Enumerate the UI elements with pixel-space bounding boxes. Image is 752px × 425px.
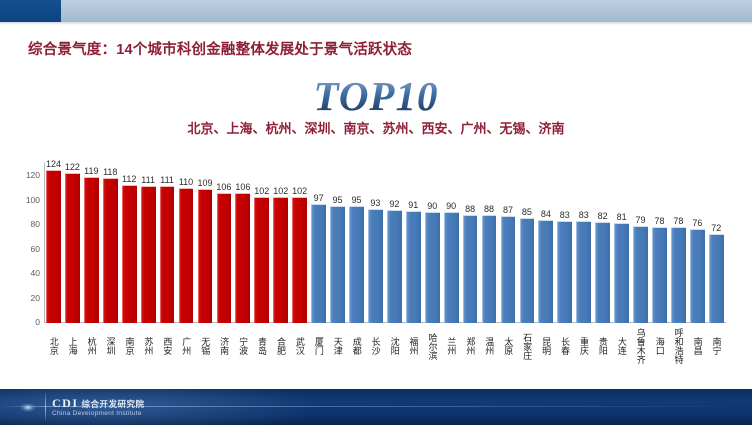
bar: 78	[671, 227, 686, 323]
bar: 83	[557, 221, 572, 323]
bar: 106	[235, 193, 250, 323]
bar: 112	[122, 185, 137, 323]
bar: 84	[538, 220, 553, 323]
bar-cell: 102	[252, 163, 271, 323]
bar: 83	[576, 221, 591, 323]
x-axis-category-label: 深圳	[105, 328, 116, 364]
x-axis-category-label: 兰州	[446, 328, 457, 364]
bar-cell: 93	[366, 163, 385, 323]
bar-cell: 106	[233, 163, 252, 323]
bar: 106	[217, 193, 232, 323]
x-axis-label-cell: 广州	[177, 328, 196, 364]
x-axis-category-label: 南昌	[692, 328, 703, 364]
y-axis-tick: 60	[31, 244, 45, 254]
bar-cell: 78	[669, 163, 688, 323]
bar-value-label: 81	[617, 212, 627, 222]
x-axis-label-cell: 沈阳	[385, 328, 404, 364]
x-axis-category-label: 昆明	[541, 328, 552, 364]
x-axis-label-cell: 昆明	[536, 328, 555, 364]
x-axis-label-cell: 石家庄	[517, 328, 536, 364]
bar-value-label: 111	[160, 175, 174, 185]
x-axis-label-cell: 大连	[612, 328, 631, 364]
bar-cell: 83	[574, 163, 593, 323]
bar-cell: 92	[385, 163, 404, 323]
bar-value-label: 84	[541, 209, 551, 219]
x-axis-label-cell: 杭州	[82, 328, 101, 364]
x-axis-label-cell: 上海	[63, 328, 82, 364]
bar-value-label: 83	[560, 210, 570, 220]
x-axis-category-label: 西安	[162, 328, 173, 364]
bar-cell: 85	[517, 163, 536, 323]
bar: 93	[368, 209, 383, 323]
bar-cell: 91	[404, 163, 423, 323]
x-axis-category-label: 苏州	[143, 328, 154, 364]
x-axis-category-label: 上海	[67, 328, 78, 364]
bar-cell: 72	[707, 163, 726, 323]
bar: 87	[501, 216, 516, 323]
bar-value-label: 72	[711, 223, 721, 233]
x-axis-label-cell: 南昌	[688, 328, 707, 364]
x-axis-category-label: 哈尔滨	[427, 328, 438, 364]
x-axis-label-cell: 呼和浩特	[669, 328, 688, 364]
bar-cell: 83	[555, 163, 574, 323]
bar: 82	[595, 222, 610, 323]
y-axis-tick: 20	[31, 293, 45, 303]
cdi-star-icon	[20, 403, 36, 412]
bar-cell: 119	[82, 163, 101, 323]
x-axis-category-label: 乌鲁木齐	[635, 328, 646, 364]
bar-value-label: 88	[484, 204, 494, 214]
bar: 119	[84, 177, 99, 323]
bar: 90	[425, 212, 440, 323]
x-axis-label-cell: 济南	[214, 328, 233, 364]
bar-cell: 112	[120, 163, 139, 323]
x-axis-label-cell: 哈尔滨	[423, 328, 442, 364]
x-axis-label-cell: 宁波	[233, 328, 252, 364]
x-axis-category-label: 长沙	[370, 328, 381, 364]
bar-value-label: 102	[254, 186, 269, 196]
bar-cell: 90	[442, 163, 461, 323]
bar: 95	[349, 206, 364, 323]
x-axis-category-label: 贵阳	[597, 328, 608, 364]
x-axis-category-label: 石家庄	[522, 328, 533, 364]
bar-cell: 102	[290, 163, 309, 323]
x-axis-category-label: 福州	[408, 328, 419, 364]
x-axis-category-label: 北京	[48, 328, 59, 364]
bar-value-label: 112	[122, 174, 136, 184]
bar: 91	[406, 211, 421, 323]
bar-cell: 97	[309, 163, 328, 323]
bar-value-label: 118	[103, 167, 117, 177]
bar-cell: 84	[536, 163, 555, 323]
x-axis-category-label: 郑州	[465, 328, 476, 364]
bar: 85	[520, 218, 535, 323]
x-axis-label-cell: 长沙	[366, 328, 385, 364]
bar-chart: 020406080100120 124122119118112111111110…	[8, 158, 752, 380]
bar: 88	[482, 215, 497, 323]
x-axis-category-label: 宁波	[238, 328, 249, 364]
top-accent-block	[0, 0, 61, 22]
bar-value-label: 85	[522, 207, 532, 217]
bar: 92	[387, 210, 402, 323]
bar: 95	[330, 206, 345, 323]
x-axis-category-label: 沈阳	[389, 328, 400, 364]
bar-cell: 124	[44, 163, 63, 323]
x-axis-label-cell: 太原	[499, 328, 518, 364]
bar: 97	[311, 204, 326, 323]
x-axis-category-label: 天津	[332, 328, 343, 364]
x-axis-category-label: 大连	[616, 328, 627, 364]
bar: 110	[179, 188, 194, 323]
bar: 72	[709, 234, 724, 323]
bar-value-label: 97	[314, 193, 324, 203]
x-axis-labels: 北京上海杭州深圳南京苏州西安广州无锡济南宁波青岛合肥武汉厦门天津成都长沙沈阳福州…	[44, 328, 726, 364]
y-axis-tick: 120	[26, 170, 45, 180]
bar-value-label: 119	[84, 166, 98, 176]
bar-cell: 81	[612, 163, 631, 323]
x-axis-label-cell: 苏州	[139, 328, 158, 364]
bar: 76	[690, 229, 705, 323]
bar-cell: 110	[177, 163, 196, 323]
x-axis-category-label: 厦门	[313, 328, 324, 364]
footer-logo-chinese: 综合开发研究院	[82, 399, 145, 409]
bar-value-label: 87	[503, 205, 513, 215]
x-axis-label-cell: 北京	[44, 328, 63, 364]
x-axis-category-label: 温州	[484, 328, 495, 364]
bar-cell: 82	[593, 163, 612, 323]
bar: 102	[254, 197, 269, 323]
x-axis-label-cell: 成都	[347, 328, 366, 364]
bar-value-label: 92	[389, 199, 399, 209]
bar-cell: 102	[271, 163, 290, 323]
bar-value-label: 109	[197, 178, 212, 188]
bar-cell: 111	[139, 163, 158, 323]
top10-cities-line: 北京、上海、杭州、深圳、南京、苏州、西安、广州、无锡、济南	[0, 118, 752, 137]
bar: 78	[652, 227, 667, 323]
x-axis-label-cell: 海口	[650, 328, 669, 364]
x-axis-category-label: 成都	[351, 328, 362, 364]
bar-value-label: 122	[65, 162, 80, 172]
x-axis-label-cell: 厦门	[309, 328, 328, 364]
bar-cell: 111	[158, 163, 177, 323]
bar: 118	[103, 178, 118, 323]
bar-cell: 122	[63, 163, 82, 323]
bar: 81	[614, 223, 629, 323]
bar-value-label: 78	[673, 216, 683, 226]
y-axis-tick: 80	[31, 219, 45, 229]
bar: 88	[463, 215, 478, 323]
bar-value-label: 95	[333, 195, 343, 205]
x-axis-category-label: 重庆	[578, 328, 589, 364]
x-axis-label-cell: 深圳	[101, 328, 120, 364]
slide-canvas: 综合景气度：14个城市科创金融整体发展处于景气活跃状态 TOP10 北京、上海、…	[0, 0, 752, 425]
bar-value-label: 95	[351, 195, 361, 205]
x-axis-label-cell: 西安	[158, 328, 177, 364]
bar-value-label: 124	[46, 159, 61, 169]
x-axis-label-cell: 福州	[404, 328, 423, 364]
bar-cell: 106	[214, 163, 233, 323]
bar-value-label: 83	[579, 210, 589, 220]
bar-value-label: 111	[141, 175, 155, 185]
bar-value-label: 102	[292, 186, 307, 196]
bar: 102	[273, 197, 288, 323]
x-axis-label-cell: 无锡	[196, 328, 215, 364]
x-axis-category-label: 无锡	[200, 328, 211, 364]
bar-value-label: 82	[598, 211, 608, 221]
x-axis-label-cell: 贵阳	[593, 328, 612, 364]
bar: 79	[633, 226, 648, 323]
bar-value-label: 88	[465, 204, 475, 214]
bar: 111	[141, 186, 156, 323]
x-axis-label-cell: 乌鲁木齐	[631, 328, 650, 364]
bar-value-label: 102	[273, 186, 288, 196]
bar-value-label: 106	[216, 182, 231, 192]
page-title: 综合景气度：14个城市科创金融整体发展处于景气活跃状态	[28, 38, 412, 59]
bar-value-label: 76	[692, 218, 702, 228]
bar: 102	[292, 197, 307, 323]
x-axis-category-label: 太原	[503, 328, 514, 364]
bar: 122	[65, 173, 80, 323]
bar-value-label: 91	[408, 200, 418, 210]
top-bar-shadow	[0, 22, 752, 25]
y-axis-tick: 100	[26, 195, 45, 205]
bar-cell: 88	[461, 163, 480, 323]
bar-cell: 95	[328, 163, 347, 323]
bar-cell: 95	[347, 163, 366, 323]
bar: 90	[444, 212, 459, 323]
x-axis-category-label: 合肥	[275, 328, 286, 364]
bar: 109	[198, 189, 213, 323]
bar: 124	[46, 170, 61, 323]
bar-value-label: 90	[446, 201, 456, 211]
x-axis-label-cell: 郑州	[461, 328, 480, 364]
x-axis-label-cell: 长春	[555, 328, 574, 364]
x-axis-label-cell: 重庆	[574, 328, 593, 364]
bar-cell: 76	[688, 163, 707, 323]
bar-cell: 87	[499, 163, 518, 323]
x-axis-label-cell: 天津	[328, 328, 347, 364]
bar-cell: 118	[101, 163, 120, 323]
bar-cell: 90	[423, 163, 442, 323]
bar-value-label: 110	[179, 177, 193, 187]
bar-cell: 109	[196, 163, 215, 323]
bar-value-label: 78	[654, 216, 664, 226]
x-axis-category-label: 南宁	[711, 328, 722, 364]
x-axis-category-label: 广州	[181, 328, 192, 364]
x-axis-category-label: 长春	[560, 328, 571, 364]
x-axis-label-cell: 温州	[480, 328, 499, 364]
x-axis-label-cell: 兰州	[442, 328, 461, 364]
top-decoration-bar	[0, 0, 752, 22]
x-axis-category-label: 杭州	[86, 328, 97, 364]
x-axis-category-label: 呼和浩特	[673, 328, 684, 364]
footer-logo-abbr: CDI	[52, 396, 79, 410]
x-axis-category-label: 青岛	[257, 328, 268, 364]
bar-series: 1241221191181121111111101091061061021021…	[44, 163, 726, 323]
bar-cell: 78	[650, 163, 669, 323]
x-axis-category-label: 海口	[654, 328, 665, 364]
x-axis-label-cell: 南京	[120, 328, 139, 364]
x-axis-category-label: 武汉	[294, 328, 305, 364]
x-axis-label-cell: 合肥	[271, 328, 290, 364]
x-axis-label-cell: 南宁	[707, 328, 726, 364]
bar-value-label: 79	[636, 215, 646, 225]
y-axis-tick: 40	[31, 268, 45, 278]
bar-value-label: 93	[370, 198, 380, 208]
bar: 111	[160, 186, 175, 323]
x-axis-label-cell: 武汉	[290, 328, 309, 364]
bar-value-label: 106	[235, 182, 250, 192]
footer-logo-english: China Development Institute	[52, 410, 142, 417]
x-axis-category-label: 济南	[219, 328, 230, 364]
bar-cell: 79	[631, 163, 650, 323]
bar-cell: 88	[480, 163, 499, 323]
top10-heading: TOP10	[0, 72, 752, 120]
bar-value-label: 90	[427, 201, 437, 211]
footer-bar: CDI综合开发研究院 China Development Institute	[0, 389, 752, 425]
x-axis-category-label: 南京	[124, 328, 135, 364]
x-axis-label-cell: 青岛	[252, 328, 271, 364]
footer-vertical-divider	[45, 393, 46, 421]
